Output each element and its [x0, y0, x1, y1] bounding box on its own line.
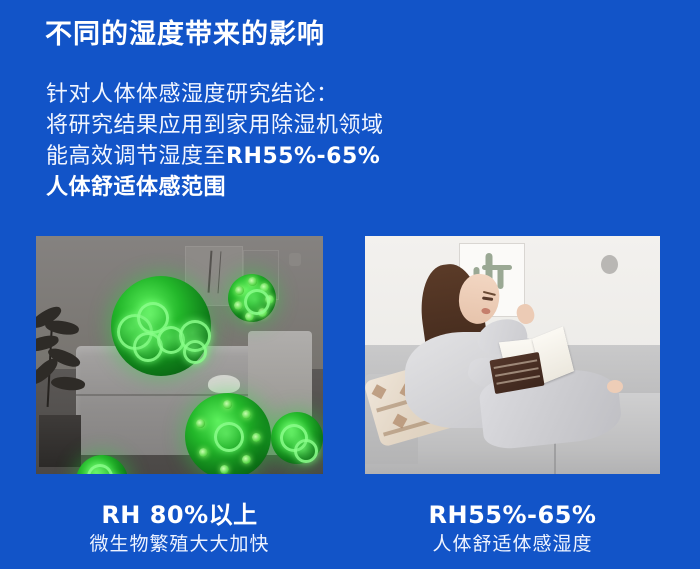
- caption-title: RH55%-65%: [365, 500, 660, 530]
- humidity-info-poster: 不同的湿度带来的影响 针对人体体感湿度研究结论： 将研究结果应用到家用除湿机领域…: [0, 0, 700, 569]
- microbe-cell: [87, 464, 113, 474]
- wall-speaker-icon: [289, 253, 301, 266]
- book-cover-line: [497, 375, 541, 385]
- humidity-range-highlight: RH55%-65%: [226, 144, 380, 169]
- bright-room-scene: [365, 236, 660, 474]
- caption-title: RH 80%以上: [36, 500, 323, 530]
- microbe-cluster-large: [111, 276, 211, 376]
- caption-comfort-humidity: RH55%-65% 人体舒适体感湿度: [365, 500, 660, 558]
- intro-line-1: 针对人体体感湿度研究结论：: [46, 79, 466, 110]
- page-title: 不同的湿度带来的影响: [45, 18, 325, 52]
- microbe-spike: [199, 448, 208, 457]
- potted-plant-foliage: [36, 307, 95, 417]
- microbe-spike: [220, 465, 229, 474]
- intro-line-2: 将研究结果应用到家用除湿机领域: [46, 110, 466, 141]
- eye: [482, 296, 493, 301]
- plant-leaf: [50, 375, 85, 393]
- intro-line-3: 能高效调节湿度至RH55%-65%: [46, 141, 466, 172]
- microbe-spike: [248, 277, 257, 286]
- microbe-cell: [183, 340, 207, 364]
- dim-room-scene: [36, 236, 323, 474]
- book-cover-line: [494, 359, 538, 369]
- intro-paragraph: 针对人体体感湿度研究结论： 将研究结果应用到家用除湿机领域 能高效调节湿度至RH…: [46, 79, 466, 203]
- plant-pot: [39, 415, 81, 467]
- microbe-spike: [242, 410, 251, 419]
- plant-leaf: [44, 317, 80, 337]
- microbe-spike: [235, 286, 244, 295]
- microbe-cell: [214, 422, 244, 452]
- caption-high-humidity: RH 80%以上 微生物繁殖大大加快: [36, 500, 323, 558]
- photo-comfort-humidity: [365, 236, 660, 474]
- photo-high-humidity: [36, 236, 323, 474]
- microbe-spike: [223, 400, 232, 409]
- eyebrow: [483, 291, 496, 296]
- caption-subtitle: 微生物繁殖大大加快: [36, 530, 323, 558]
- microbe-spike: [252, 433, 261, 442]
- foot: [607, 380, 623, 393]
- microbe-spike: [242, 455, 251, 464]
- microbe-cluster-edge: [271, 412, 323, 464]
- lips: [481, 307, 491, 314]
- pillow-pattern: [371, 385, 386, 400]
- dim-cushion: [208, 375, 240, 393]
- microbe-cluster-bottom: [185, 393, 271, 474]
- intro-line-4: 人体舒适体感范围: [46, 172, 466, 203]
- microbe-spike: [196, 419, 205, 428]
- caption-subtitle: 人体舒适体感湿度: [365, 530, 660, 558]
- intro-line-3-prefix: 能高效调节湿度至: [46, 144, 226, 169]
- book-cover-line: [495, 367, 539, 377]
- microbe-spike: [234, 301, 243, 310]
- woman-reading: [400, 260, 624, 460]
- microbe-cell: [244, 289, 270, 315]
